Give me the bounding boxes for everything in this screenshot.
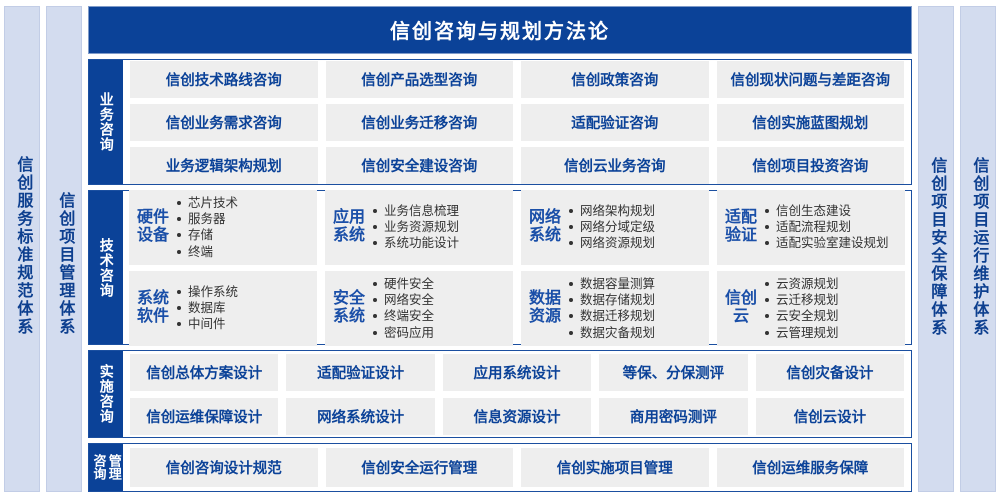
band-label-text-col1: 咨询 bbox=[91, 454, 105, 480]
band-row: 系统 软件 操作系统 数据库 中间件 安全 系统 bbox=[129, 271, 905, 346]
card-list: 网络架构规划 网络分域定级 网络资源规划 bbox=[569, 203, 703, 252]
band-body-technical: 硬件 设备 芯片技术 服务器 存储 终端 应用 系统 bbox=[123, 191, 911, 344]
pillar-label: 信创项目安全保障体系 bbox=[928, 157, 945, 337]
list-item: 适配实验室建设规划 bbox=[765, 235, 899, 251]
list-item: 终端 bbox=[177, 244, 311, 260]
band-technical-consulting: 技术咨询 硬件 设备 芯片技术 服务器 存储 终端 bbox=[88, 190, 912, 345]
center-column: 信创咨询与规划方法论 业务咨询 信创技术路线咨询 信创产品选型咨询 信创政策咨询… bbox=[88, 6, 912, 492]
card-security-system[interactable]: 安全 系统 硬件安全 网络安全 终端安全 密码应用 bbox=[325, 271, 513, 346]
cell-item[interactable]: 信创业务迁移咨询 bbox=[326, 104, 514, 141]
cell-item[interactable]: 信创安全建设咨询 bbox=[326, 147, 514, 184]
band-row: 信创运维保障设计 网络系统设计 信息资源设计 商用密码测评 信创云设计 bbox=[130, 398, 904, 435]
card-adaptation-verification[interactable]: 适配 验证 信创生态建设 适配流程规划 适配实验室建设规划 bbox=[717, 190, 905, 265]
pillar-label: 信创项目管理体系 bbox=[56, 192, 73, 336]
band-body-implementation: 信创总体方案设计 适配验证设计 应用系统设计 等保、分保测评 信创灾备设计 信创… bbox=[123, 351, 911, 437]
cell-item[interactable]: 信创咨询设计规范 bbox=[130, 448, 318, 487]
band-label-text: 业务咨询 bbox=[98, 92, 113, 152]
card-title: 应用 系统 bbox=[333, 209, 365, 245]
cell-item[interactable]: 信创运维保障设计 bbox=[130, 398, 278, 435]
list-item: 数据存储规划 bbox=[569, 292, 703, 308]
list-item: 数据容量测算 bbox=[569, 276, 703, 292]
band-label-text: 实施咨询 bbox=[98, 364, 113, 424]
card-list: 芯片技术 服务器 存储 终端 bbox=[177, 195, 311, 260]
cell-item[interactable]: 信创灾备设计 bbox=[756, 354, 904, 391]
card-title: 网络 系统 bbox=[529, 209, 561, 245]
cell-item[interactable]: 等保、分保测评 bbox=[599, 354, 747, 391]
cell-item[interactable]: 信创项目投资咨询 bbox=[717, 147, 905, 184]
pillar-label: 信创项目运行维护体系 bbox=[970, 157, 987, 337]
list-item: 服务器 bbox=[177, 211, 311, 227]
cell-item[interactable]: 适配验证咨询 bbox=[521, 104, 709, 141]
card-title: 安全 系统 bbox=[333, 290, 365, 326]
card-list: 信创生态建设 适配流程规划 适配实验室建设规划 bbox=[765, 203, 899, 252]
list-item: 数据灾备规划 bbox=[569, 325, 703, 341]
cell-item[interactable]: 信创实施项目管理 bbox=[521, 448, 709, 487]
card-list: 业务信息梳理 业务资源规划 系统功能设计 bbox=[373, 203, 507, 252]
pillar-project-management-system: 信创项目管理体系 bbox=[46, 6, 82, 492]
pillar-label: 信创服务标准规范体系 bbox=[14, 156, 31, 336]
cell-item[interactable]: 信创总体方案设计 bbox=[130, 354, 278, 391]
cell-item[interactable]: 信创产品选型咨询 bbox=[326, 61, 514, 98]
list-item: 适配流程规划 bbox=[765, 219, 899, 235]
diagram-root: 信创服务标准规范体系 信创项目管理体系 信创咨询与规划方法论 业务咨询 信创技术… bbox=[0, 0, 1000, 496]
band-label-business: 业务咨询 bbox=[89, 60, 123, 184]
card-xinchuang-cloud[interactable]: 信创 云 云资源规划 云迁移规划 云安全规划 云管理规划 bbox=[717, 271, 905, 346]
list-item: 网络资源规划 bbox=[569, 235, 703, 251]
cell-item[interactable]: 应用系统设计 bbox=[443, 354, 591, 391]
list-item: 系统功能设计 bbox=[373, 235, 507, 251]
band-label-text-col2: 管理 bbox=[107, 454, 121, 480]
card-title: 适配 验证 bbox=[725, 209, 757, 245]
pillar-service-standard-system: 信创服务标准规范体系 bbox=[4, 6, 40, 492]
cell-item[interactable]: 信息资源设计 bbox=[443, 398, 591, 435]
band-label-text: 技术咨询 bbox=[98, 238, 113, 298]
band-label-management: 咨询 管理 bbox=[89, 444, 123, 491]
list-item: 信创生态建设 bbox=[765, 203, 899, 219]
card-hardware-devices[interactable]: 硬件 设备 芯片技术 服务器 存储 终端 bbox=[129, 190, 317, 265]
band-row: 信创业务需求咨询 信创业务迁移咨询 适配验证咨询 信创实施蓝图规划 bbox=[130, 104, 904, 141]
band-label-technical: 技术咨询 bbox=[89, 191, 123, 344]
band-body-management: 信创咨询设计规范 信创安全运行管理 信创实施项目管理 信创运维服务保障 bbox=[123, 444, 911, 491]
card-network-system[interactable]: 网络 系统 网络架构规划 网络分域定级 网络资源规划 bbox=[521, 190, 709, 265]
list-item: 终端安全 bbox=[373, 308, 507, 324]
card-data-resource[interactable]: 数据 资源 数据容量测算 数据存储规划 数据迁移规划 数据灾备规划 bbox=[521, 271, 709, 346]
cell-item[interactable]: 业务逻辑架构规划 bbox=[130, 147, 318, 184]
band-row: 业务逻辑架构规划 信创安全建设咨询 信创云业务咨询 信创项目投资咨询 bbox=[130, 147, 904, 184]
cell-item[interactable]: 信创实施蓝图规划 bbox=[717, 104, 905, 141]
cell-item[interactable]: 网络系统设计 bbox=[286, 398, 434, 435]
band-row: 信创总体方案设计 适配验证设计 应用系统设计 等保、分保测评 信创灾备设计 bbox=[130, 354, 904, 391]
cell-item[interactable]: 信创政策咨询 bbox=[521, 61, 709, 98]
cell-item[interactable]: 信创云设计 bbox=[756, 398, 904, 435]
card-title: 系统 软件 bbox=[137, 290, 169, 326]
list-item: 网络分域定级 bbox=[569, 219, 703, 235]
card-list: 硬件安全 网络安全 终端安全 密码应用 bbox=[373, 276, 507, 341]
band-row: 硬件 设备 芯片技术 服务器 存储 终端 应用 系统 bbox=[129, 190, 905, 265]
list-item: 操作系统 bbox=[177, 284, 311, 300]
band-row: 信创技术路线咨询 信创产品选型咨询 信创政策咨询 信创现状问题与差距咨询 bbox=[130, 61, 904, 98]
list-item: 云管理规划 bbox=[765, 325, 899, 341]
cell-item[interactable]: 信创安全运行管理 bbox=[326, 448, 514, 487]
cell-item[interactable]: 信创云业务咨询 bbox=[521, 147, 709, 184]
card-title: 数据 资源 bbox=[529, 290, 561, 326]
list-item: 存储 bbox=[177, 227, 311, 243]
list-item: 芯片技术 bbox=[177, 195, 311, 211]
band-body-business: 信创技术路线咨询 信创产品选型咨询 信创政策咨询 信创现状问题与差距咨询 信创业… bbox=[123, 60, 911, 184]
cell-item[interactable]: 信创业务需求咨询 bbox=[130, 104, 318, 141]
card-system-software[interactable]: 系统 软件 操作系统 数据库 中间件 bbox=[129, 271, 317, 346]
cell-item[interactable]: 适配验证设计 bbox=[286, 354, 434, 391]
band-label-implementation: 实施咨询 bbox=[89, 351, 123, 437]
cell-item[interactable]: 信创现状问题与差距咨询 bbox=[717, 61, 905, 98]
page-title: 信创咨询与规划方法论 bbox=[88, 6, 912, 54]
cell-item[interactable]: 信创运维服务保障 bbox=[717, 448, 905, 487]
card-application-system[interactable]: 应用 系统 业务信息梳理 业务资源规划 系统功能设计 bbox=[325, 190, 513, 265]
list-item: 硬件安全 bbox=[373, 276, 507, 292]
list-item: 网络安全 bbox=[373, 292, 507, 308]
list-item: 云资源规划 bbox=[765, 276, 899, 292]
card-list: 云资源规划 云迁移规划 云安全规划 云管理规划 bbox=[765, 276, 899, 341]
list-item: 业务资源规划 bbox=[373, 219, 507, 235]
list-item: 云迁移规划 bbox=[765, 292, 899, 308]
card-list: 操作系统 数据库 中间件 bbox=[177, 284, 311, 333]
list-item: 云安全规划 bbox=[765, 308, 899, 324]
band-business-consulting: 业务咨询 信创技术路线咨询 信创产品选型咨询 信创政策咨询 信创现状问题与差距咨… bbox=[88, 59, 912, 185]
list-item: 密码应用 bbox=[373, 325, 507, 341]
pillar-project-security-system: 信创项目安全保障体系 bbox=[918, 6, 954, 492]
band-consulting-management: 咨询 管理 信创咨询设计规范 信创安全运行管理 信创实施项目管理 信创运维服务保… bbox=[88, 443, 912, 492]
cell-item[interactable]: 信创技术路线咨询 bbox=[130, 61, 318, 98]
cell-item[interactable]: 商用密码测评 bbox=[599, 398, 747, 435]
list-item: 中间件 bbox=[177, 316, 311, 332]
list-item: 数据迁移规划 bbox=[569, 308, 703, 324]
list-item: 数据库 bbox=[177, 300, 311, 316]
card-list: 数据容量测算 数据存储规划 数据迁移规划 数据灾备规划 bbox=[569, 276, 703, 341]
pillar-project-ops-system: 信创项目运行维护体系 bbox=[960, 6, 996, 492]
band-row: 信创咨询设计规范 信创安全运行管理 信创实施项目管理 信创运维服务保障 bbox=[130, 448, 904, 487]
list-item: 网络架构规划 bbox=[569, 203, 703, 219]
band-implementation-consulting: 实施咨询 信创总体方案设计 适配验证设计 应用系统设计 等保、分保测评 信创灾备… bbox=[88, 350, 912, 438]
card-title: 信创 云 bbox=[725, 290, 757, 326]
list-item: 业务信息梳理 bbox=[373, 203, 507, 219]
card-title: 硬件 设备 bbox=[137, 209, 169, 245]
